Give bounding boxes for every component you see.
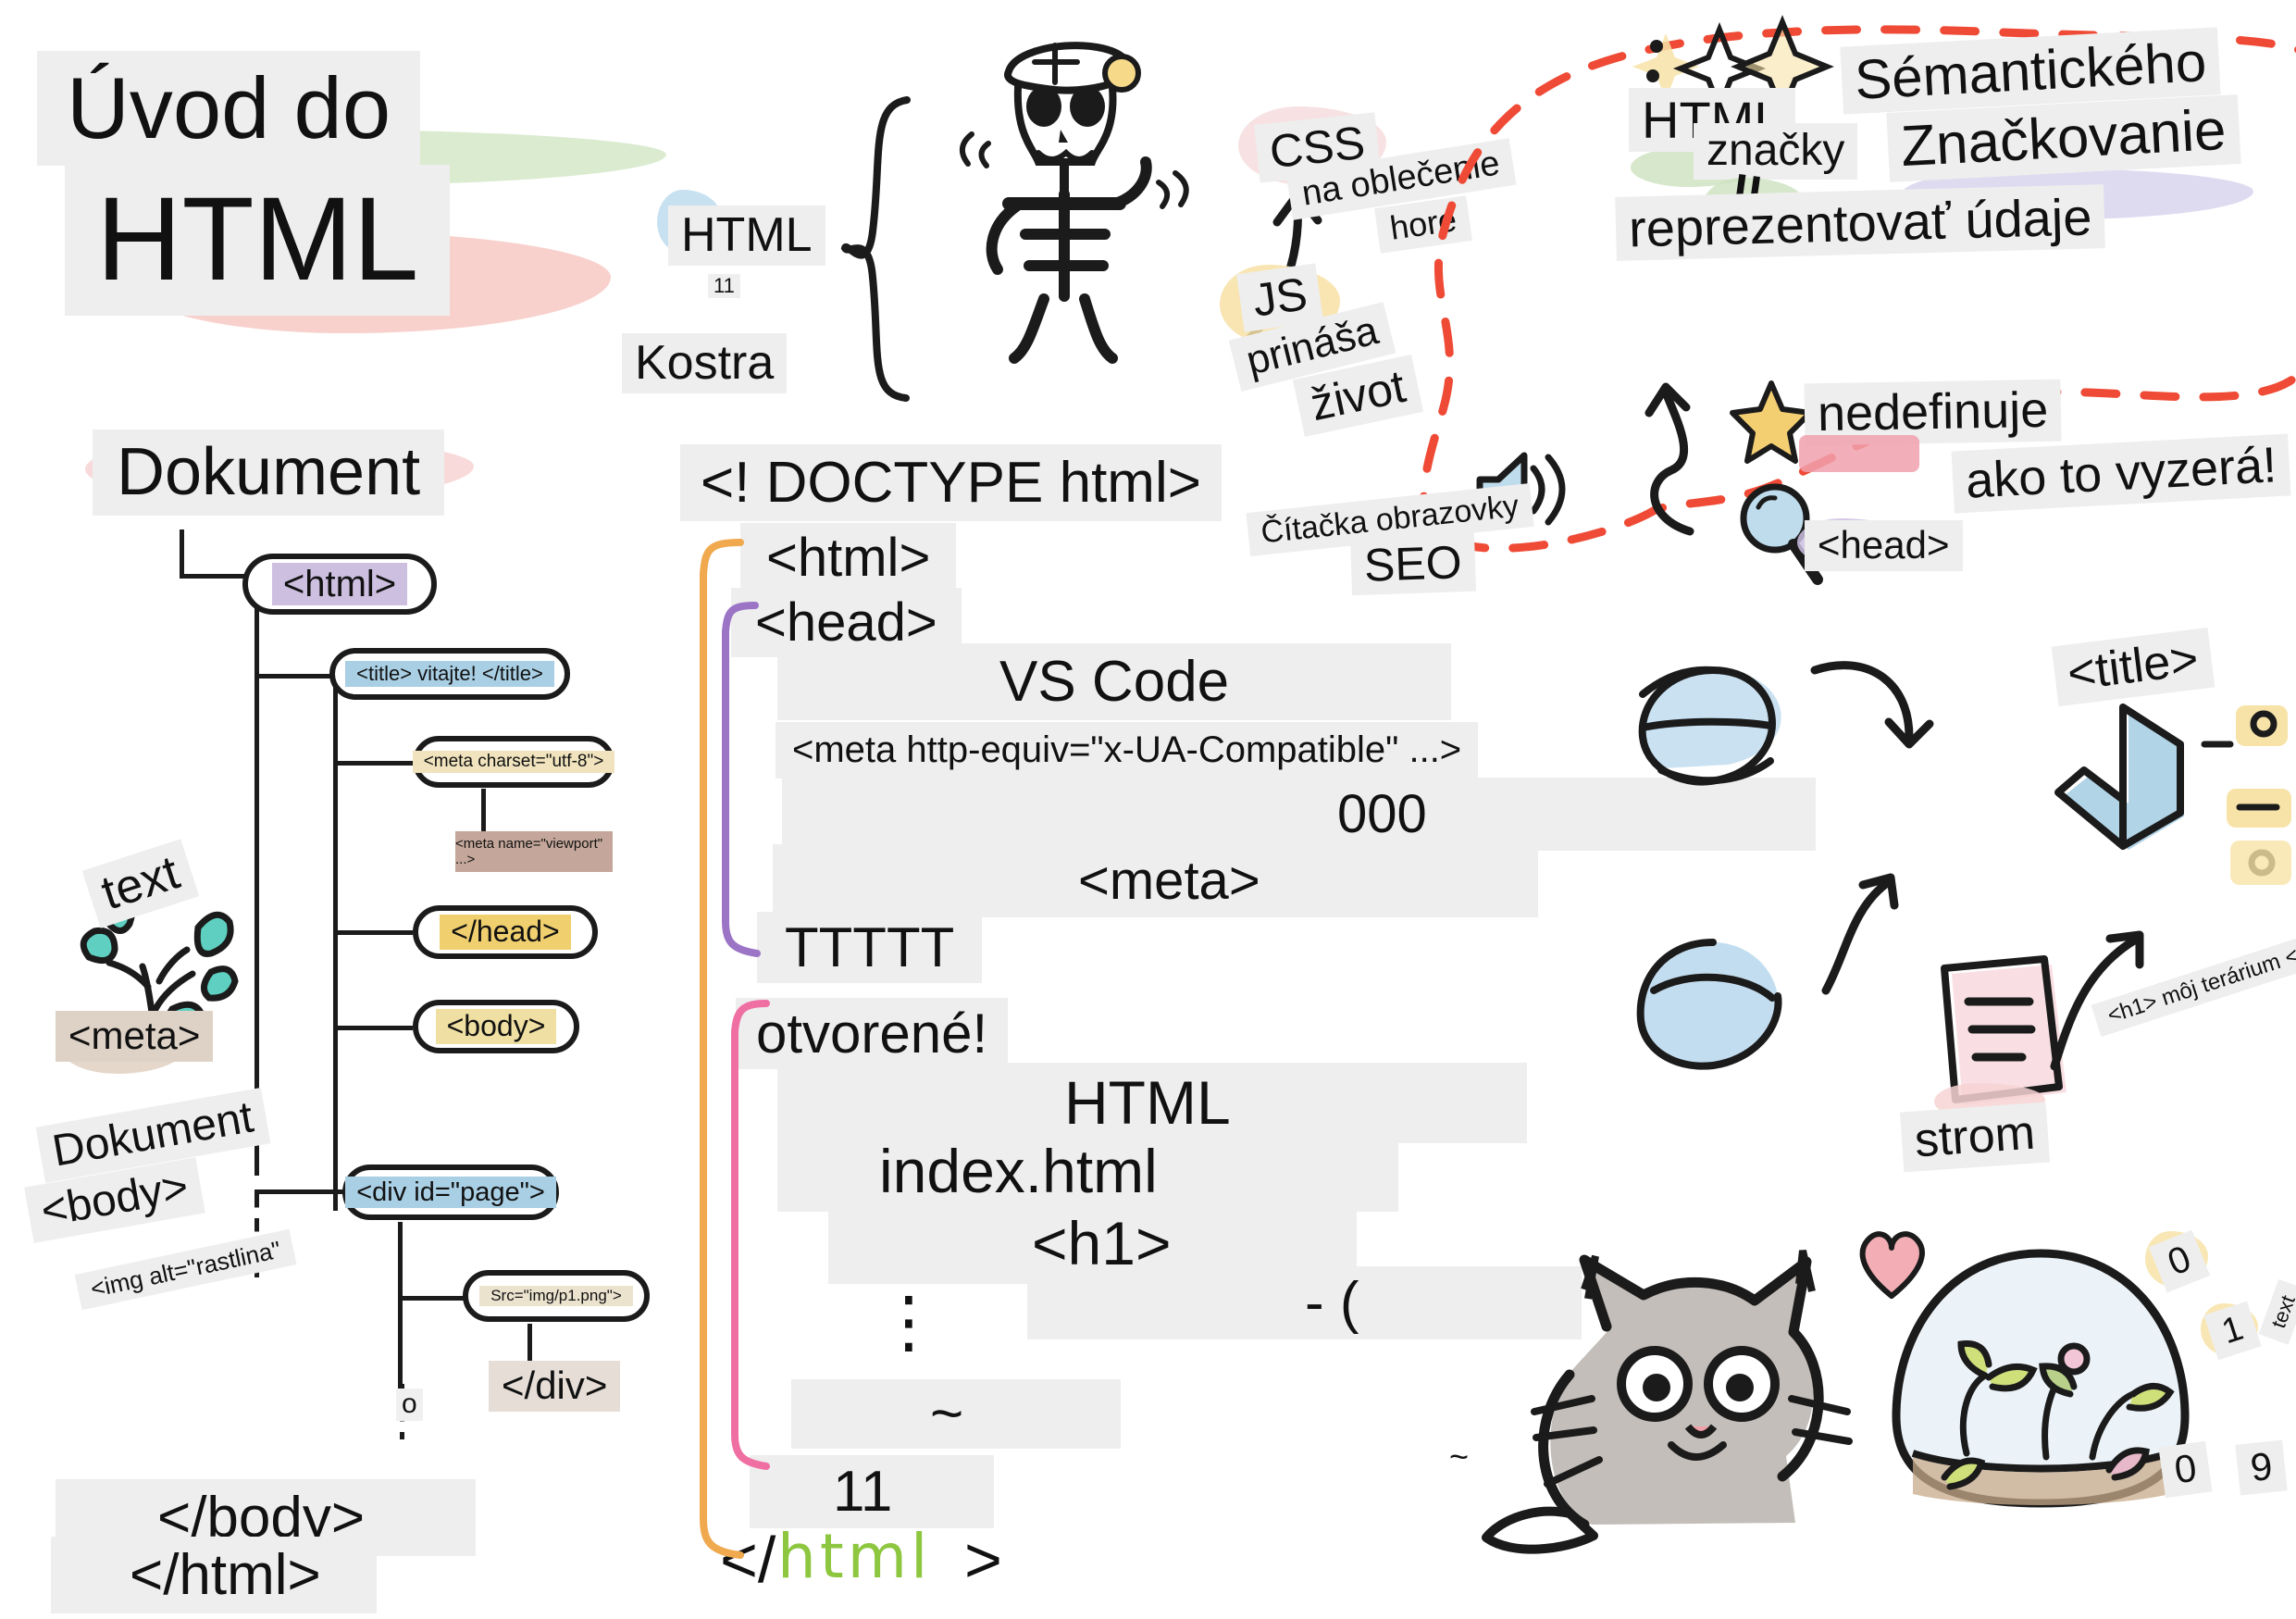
- skeleton-html-label: HTML: [668, 205, 825, 266]
- tree-edge-headclose-h: [333, 930, 413, 935]
- page-title-line2: HTML: [65, 165, 450, 316]
- code-index-html: index.html: [777, 1131, 1398, 1212]
- code-ttttt: TTTTT: [757, 912, 982, 983]
- cat-tilde: ~: [1449, 1440, 1469, 1475]
- microsoft-edge-icon: [1624, 926, 1800, 1083]
- tree-edge-div-spine: [398, 1222, 403, 1389]
- skeleton-kostra-label: Kostra: [622, 333, 787, 393]
- internet-explorer-icon: [1624, 648, 1800, 805]
- seo-label: SEO: [1350, 533, 1476, 596]
- closing-html-tag: </html>: [51, 1537, 377, 1613]
- tree-node-meta-viewport[interactable]: <meta name="viewport" ...>: [455, 831, 613, 872]
- digit-zero-bottom: 0: [2158, 1441, 2212, 1498]
- code-eleven: 11: [750, 1455, 994, 1528]
- code-html-open: <html>: [740, 523, 956, 592]
- tree-edge-div-h: [254, 1189, 343, 1194]
- tree-node-meta-viewport-label: <meta name="viewport" ...>: [455, 836, 613, 867]
- tree-node-div-page[interactable]: <div id="page">: [342, 1164, 559, 1220]
- pink-marker-stroke: [1799, 435, 1919, 472]
- tree-node-title[interactable]: <title> vitajte! </title>: [329, 648, 570, 700]
- code-doctype: <! DOCTYPE html>: [680, 444, 1222, 521]
- tree-edge-head-spine: [333, 674, 338, 1211]
- tree-node-meta-charset-label: <meta charset="utf-8">: [413, 751, 615, 773]
- code-meta-http-equiv: <meta http-equiv="x-UA-Compatible" ...>: [776, 722, 1478, 778]
- code-closing-word: html: [777, 1526, 931, 1588]
- tree-edge-src-h: [398, 1296, 472, 1301]
- arrow-up-right-icon: [1809, 861, 1939, 1000]
- strom-label: strom: [1900, 1102, 2050, 1173]
- tree-node-meta-charset[interactable]: <meta charset="utf-8">: [413, 736, 614, 788]
- cat-icon: [1481, 1208, 1906, 1597]
- tree-small-o: o: [396, 1389, 423, 1421]
- plant-meta-label: <meta>: [56, 1011, 213, 1062]
- code-closing-right: >: [964, 1527, 1002, 1593]
- code-ellipsis: ⋮: [875, 1287, 943, 1356]
- tree-edge-body-h: [333, 1026, 413, 1030]
- code-meta-tag: <meta>: [773, 844, 1538, 917]
- code-tilde: ~: [791, 1379, 1121, 1449]
- tree-edge-charset-h: [333, 761, 413, 766]
- tree-edge-root-v: [180, 529, 184, 578]
- purple-bracket: [714, 600, 770, 970]
- tree-edge-title-h: [254, 674, 334, 679]
- tree-node-body[interactable]: <body>: [413, 1000, 579, 1053]
- tree-node-div-page-label: <div id="page">: [345, 1177, 556, 1208]
- skeleton-html-sublabel: 11: [708, 274, 740, 298]
- tree-node-head-close[interactable]: </head>: [413, 905, 598, 959]
- semantic-head-tag: <head>: [1805, 520, 1963, 571]
- znacky-label: značky: [1694, 123, 1857, 180]
- digit-nine: 9: [2235, 1439, 2288, 1495]
- tree-node-html[interactable]: <html>: [242, 554, 437, 615]
- tree-node-img-src-label: Src="img/p1.png">: [479, 1286, 633, 1306]
- dokument-heading: Dokument: [93, 430, 444, 516]
- plant-img-label: <img alt="rastlina": [75, 1229, 297, 1310]
- tree-node-html-label: <html>: [272, 563, 407, 605]
- arrow-right-curve-icon: [1809, 648, 1939, 778]
- tree-node-img-src[interactable]: Src="img/p1.png">: [463, 1270, 650, 1322]
- page-title-line1: Úvod do: [37, 51, 420, 166]
- tree-node-div-close: </div>: [489, 1361, 620, 1412]
- tree-node-body-label: <body>: [436, 1009, 557, 1044]
- tree-edge-dash-1: [333, 972, 338, 1027]
- reprezentovat-label: reprezentovať údaje: [1615, 184, 2105, 261]
- pink-bracket: [724, 998, 779, 1479]
- code-vs-code: VS Code: [777, 643, 1451, 720]
- vs-code-sparks-icon: [2184, 700, 2296, 913]
- tree-node-head-close-label: </head>: [440, 915, 570, 950]
- tree-edge-charset-v: [481, 789, 486, 833]
- tree-node-title-label: <title> vitajte! </title>: [345, 661, 554, 686]
- scatter-text-label: text: [2259, 1279, 2296, 1345]
- arrow-curve-left-icon: [1620, 370, 1731, 537]
